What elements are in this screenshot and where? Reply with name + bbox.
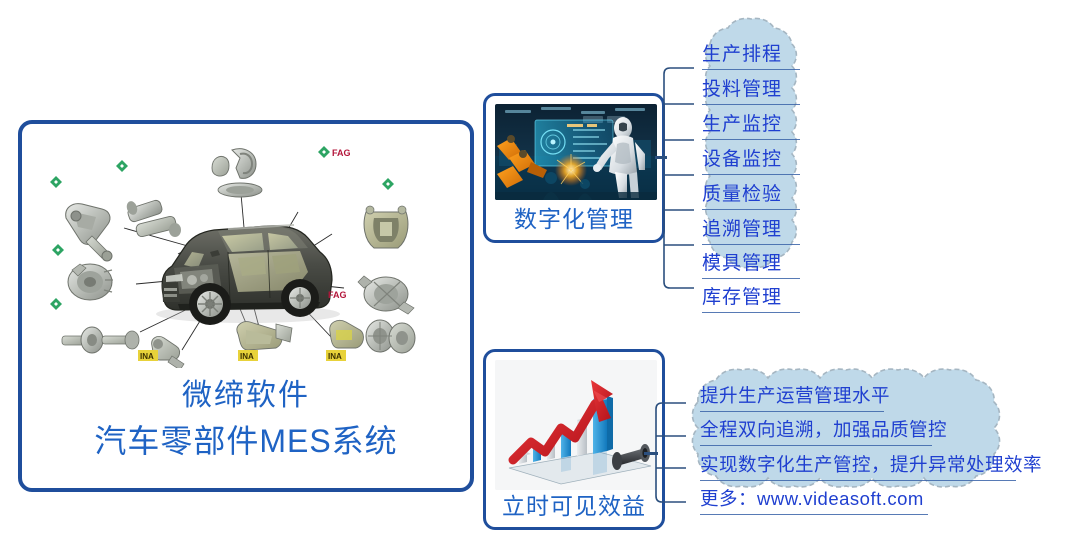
page-title: 微缔软件 汽车零部件MES系统 [22,376,470,462]
growth-bar-chart-arrow-photo [495,360,657,490]
item-underline [702,312,800,313]
connector-stub-top-box [655,156,667,159]
part-clutch-assembly [330,320,415,353]
cloud-item[interactable]: 提升生产运营管理水平 [700,382,884,408]
digital-management-card[interactable]: 数字化管理 [483,93,665,243]
panel-title-line2: 汽车零部件MES系统 [22,420,470,462]
benefit-list-cloud: 提升生产运营管理水平 全程双向追溯，加强品质管控 实现数字化生产管控，提升异常处… [668,356,1062,526]
cloud-item-label: 库存管理 [702,287,782,308]
digital-management-label: 数字化管理 [486,200,662,234]
cloud-item[interactable]: 生产监控 [702,109,800,136]
cloud-item[interactable]: 质量检验 [702,179,800,206]
cloud-item-label: 实现数字化生产管控，提升异常处理效率 [700,454,1042,475]
badge-luk-mid: INA [238,350,258,361]
cloud-item[interactable]: 模具管理 [702,248,800,275]
cloud-item-label: 提升生产运营管理水平 [700,385,890,406]
main-product-panel: FAG FAG INA INA INA 微缔软件 汽车零部件MES系统 [18,120,474,492]
svg-text:INA: INA [140,352,154,361]
svg-text:INA: INA [328,352,342,361]
cloud-item[interactable]: 投料管理 [702,74,800,101]
cloud-item[interactable]: 全程双向追溯，加强品质管控 [700,416,932,442]
car-parts-exploded-diagram: FAG FAG INA INA INA [32,132,464,368]
cloud-item-label: 质量检验 [702,184,782,205]
cloud-item-label: 生产监控 [702,114,782,135]
badge-fag-top: FAG [332,148,351,158]
cloud-top-item-list: 生产排程 投料管理 生产监控 设备监控 质量检验 追溯管理 [676,14,826,306]
badge-luk-left: INA [138,350,158,361]
cloud-item-label: 追溯管理 [702,219,782,240]
panel-title-line1: 微缔软件 [22,376,470,416]
item-underline [702,244,800,245]
item-underline [702,278,800,279]
cloud-item[interactable]: 实现数字化生产管控，提升异常处理效率 [700,451,1016,477]
digital-management-modules-cloud: 生产排程 投料管理 生产监控 设备监控 质量检验 追溯管理 [676,14,826,306]
item-underline [702,69,800,70]
svg-text:INA: INA [240,352,254,361]
item-underline [700,514,928,515]
benefit-card[interactable]: 立时可见效益 [483,349,665,530]
cloud-item[interactable]: 更多：www.videasoft.com [700,485,928,511]
item-underline [700,445,932,446]
connector-stub-bottom-box [644,452,658,455]
item-underline [702,139,800,140]
cloud-item-label: 模具管理 [702,253,782,274]
benefit-label: 立时可见效益 [486,487,662,521]
cloud-item[interactable]: 设备监控 [702,144,800,171]
item-underline [702,104,800,105]
cloud-item-label: 全程双向追溯，加强品质管控 [700,419,947,440]
car-diagram-svg: FAG FAG INA INA INA [32,132,464,368]
cloud-item[interactable]: 库存管理 [702,282,800,309]
cloud-item-label: 生产排程 [702,44,782,65]
item-underline [702,174,800,175]
cloud-bottom-item-list: 提升生产运营管理水平 全程双向追溯，加强品质管控 实现数字化生产管控，提升异常处… [668,356,1062,526]
item-underline [700,411,884,412]
smart-factory-robot-photo [495,104,657,200]
cloud-item-label: 更多：www.videasoft.com [700,488,924,509]
slide-canvas: FAG FAG INA INA INA 微缔软件 汽车零部件MES系统 [0,0,1065,559]
cloud-item-label: 设备监控 [702,149,782,170]
cloud-item-label: 投料管理 [702,79,782,100]
part-gear-hub [68,264,113,300]
badge-luk-right: INA [326,350,346,361]
part-brake-caliper [364,206,408,248]
item-underline [700,480,1016,481]
cloud-item[interactable]: 追溯管理 [702,214,800,241]
badge-fag-mid: FAG [328,290,347,300]
item-underline [702,209,800,210]
cloud-item[interactable]: 生产排程 [702,39,800,66]
